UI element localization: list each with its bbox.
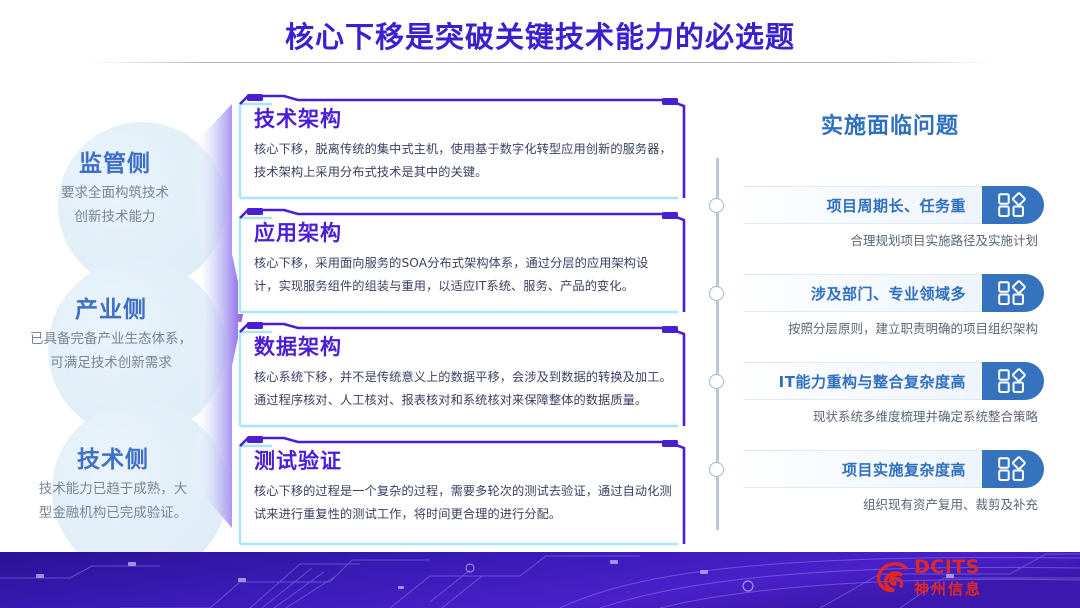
- issues-heading: 实施面临问题: [700, 108, 1080, 140]
- architecture-cards: 技术架构 核心下移，脱离传统的集中式主机，使用基于数字化转型应用创新的服务器，技…: [238, 94, 690, 544]
- page-title: 核心下移是突破关键技术能力的必选题: [0, 14, 1080, 56]
- architecture-card[interactable]: 应用架构 核心下移，采用面向服务的SOA分布式架构体系，通过分层的应用架构设计，…: [238, 208, 686, 314]
- logo-en-text: DCITS: [914, 558, 1064, 578]
- grid-shapes-icon: [982, 450, 1044, 488]
- issue-label: 项目实施复杂度高: [744, 450, 976, 488]
- card-body: 核心下移，脱离传统的集中式主机，使用基于数字化转型应用创新的服务器，技术架构上采…: [254, 138, 672, 183]
- issue-subtext: 按照分层原则，建立职责明确的项目组织架构: [730, 318, 1044, 337]
- issue-item[interactable]: 项目周期长、任务重: [730, 186, 1044, 224]
- grid-shapes-icon: [982, 362, 1044, 400]
- card-body: 核心下移的过程是一个复杂的过程，需要多轮次的测试去验证，通过自动化测试来进行重复…: [254, 480, 672, 525]
- company-logo: DCITS 神州信息: [876, 558, 1066, 600]
- timeline-dot: [709, 198, 724, 213]
- architecture-card[interactable]: 数据架构 核心系统下移，并不是传统意义上的数据平移，会涉及到数据的转换及加工。通…: [238, 322, 686, 428]
- issue-label: 项目周期长、任务重: [744, 186, 976, 224]
- timeline-dot: [709, 462, 724, 477]
- logo-swirl-icon: [876, 562, 910, 594]
- logo-cn-text: 神州信息: [914, 578, 1064, 599]
- grid-shapes-icon: [982, 274, 1044, 312]
- architecture-card[interactable]: 测试验证 核心下移的过程是一个复杂的过程，需要多轮次的测试去验证，通过自动化测试…: [238, 436, 686, 546]
- issue-label: IT能力重构与整合复杂度高: [744, 362, 976, 400]
- timeline-dot: [709, 286, 724, 301]
- architecture-card[interactable]: 技术架构 核心下移，脱离传统的集中式主机，使用基于数字化转型应用创新的服务器，技…: [238, 94, 686, 200]
- card-body: 核心系统下移，并不是传统意义上的数据平移，会涉及到数据的转换及加工。通过程序核对…: [254, 366, 672, 411]
- grid-shapes-icon: [982, 186, 1044, 224]
- card-title: 技术架构: [254, 103, 672, 133]
- issue-item[interactable]: 涉及部门、专业领域多: [730, 274, 1044, 312]
- card-title: 应用架构: [254, 217, 672, 247]
- footer-banner: DCITS 神州信息: [0, 552, 1080, 608]
- title-divider: [88, 62, 992, 63]
- card-body: 核心下移，采用面向服务的SOA分布式架构体系，通过分层的应用架构设计，实现服务组…: [254, 252, 672, 297]
- issue-subtext: 组织现有资产复用、裁剪及补充: [730, 494, 1044, 513]
- issue-item[interactable]: IT能力重构与整合复杂度高: [730, 362, 1044, 400]
- timeline-dot: [709, 374, 724, 389]
- issue-label: 涉及部门、专业领域多: [744, 274, 976, 312]
- issues-column: 实施面临问题 项目周期长、任务重 合理规划项目实施路径及实施计划 涉及部门、专业…: [700, 100, 1080, 540]
- issue-subtext: 现状系统多维度梳理并确定系统整合策略: [730, 406, 1044, 425]
- issue-item[interactable]: 项目实施复杂度高: [730, 450, 1044, 488]
- card-title: 测试验证: [254, 445, 672, 475]
- card-title: 数据架构: [254, 331, 672, 361]
- logo-text: DCITS 神州信息: [914, 558, 1064, 599]
- issue-subtext: 合理规划项目实施路径及实施计划: [730, 230, 1044, 249]
